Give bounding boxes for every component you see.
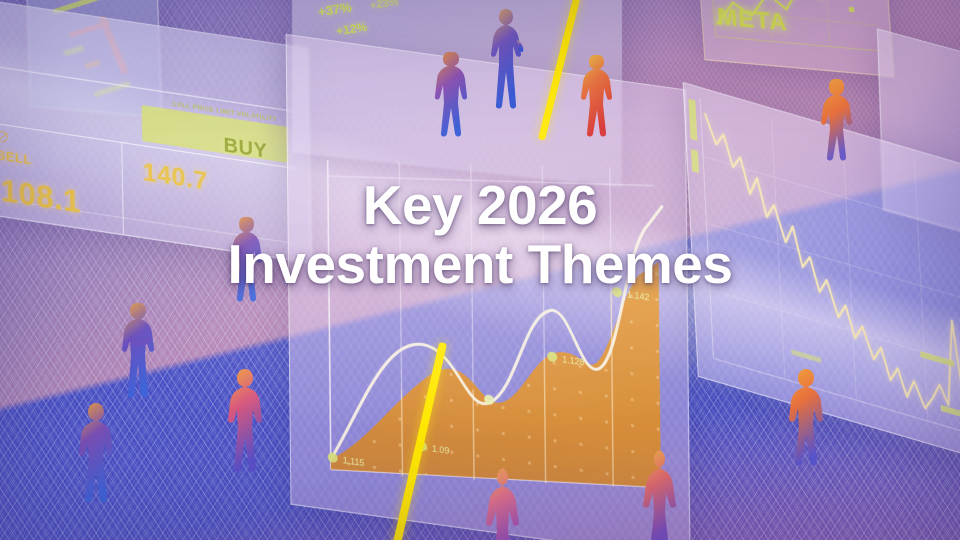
vignette-overlay — [0, 0, 960, 540]
hero-banner: CALL PRICE LIMIT VOLATILITY BUY SELL 108… — [0, 0, 960, 540]
